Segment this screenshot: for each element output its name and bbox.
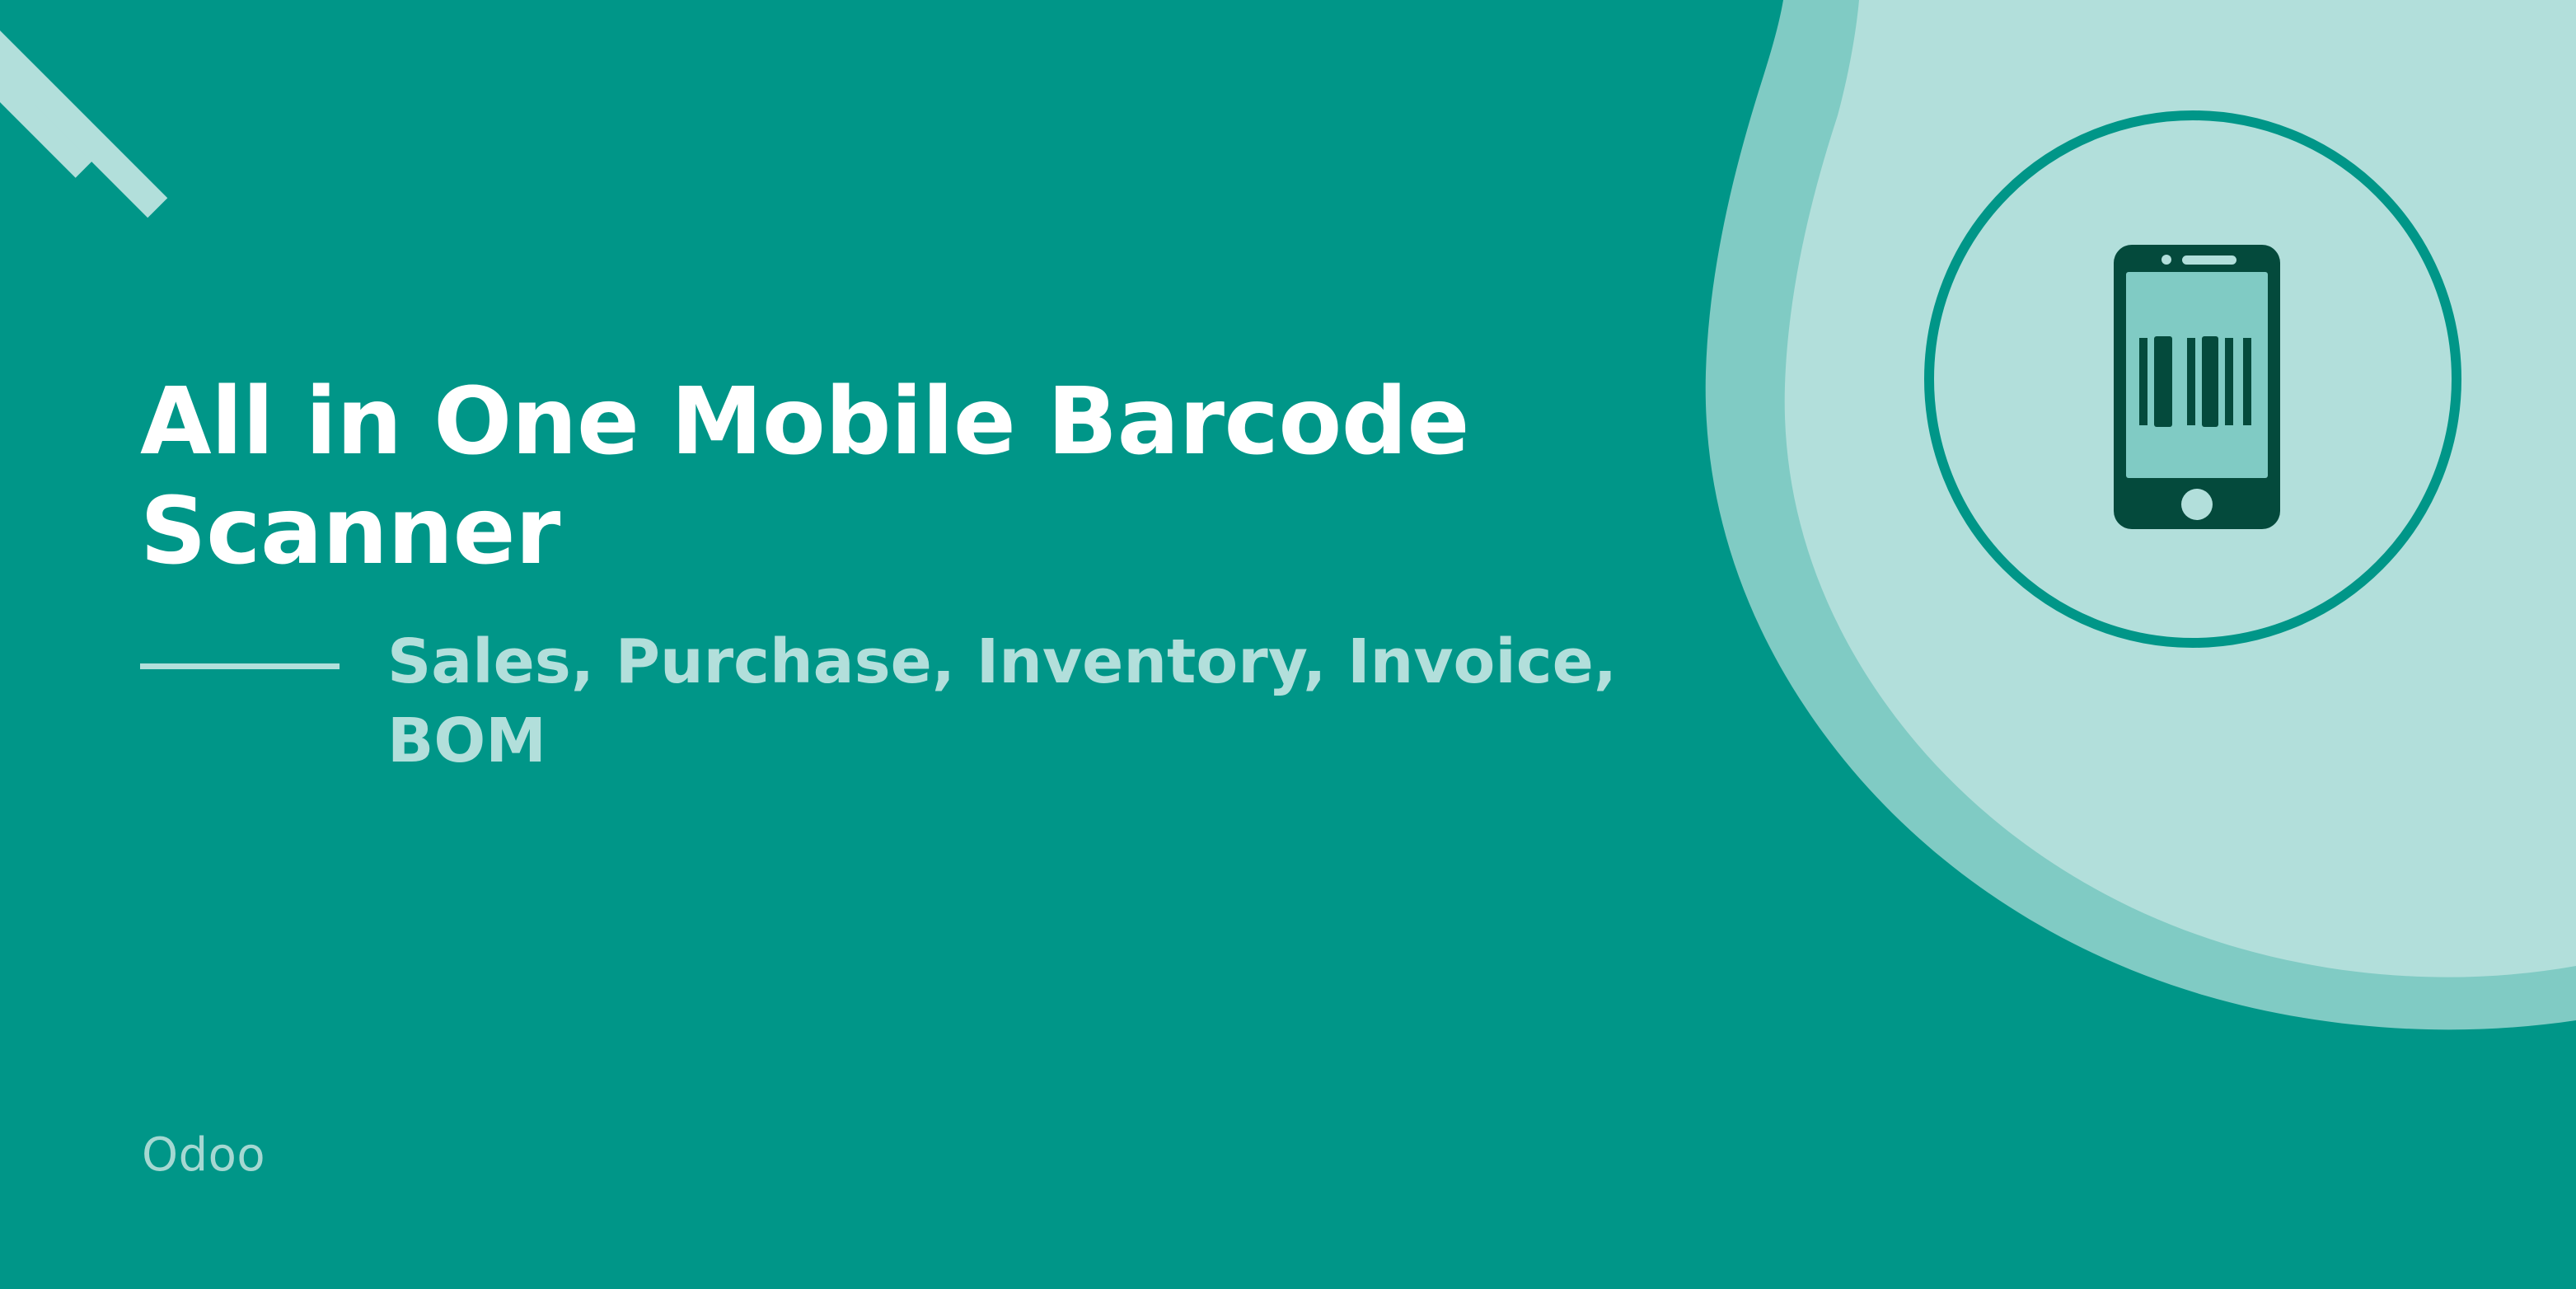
page-subtitle: Sales, Purchase, Inventory, Invoice, BOM xyxy=(387,622,1617,780)
barcode-bar xyxy=(2154,336,2172,427)
promo-banner: All in One Mobile Barcode Scanner Sales,… xyxy=(0,0,2576,1289)
brand-label: Odoo xyxy=(142,1132,265,1179)
phone-home-button xyxy=(2181,489,2213,520)
page-title: All in One Mobile Barcode Scanner xyxy=(140,368,1731,588)
barcode-bar xyxy=(2187,338,2195,425)
subtitle-rule-divider xyxy=(140,663,340,669)
barcode-bar xyxy=(2202,336,2218,427)
barcode-bar xyxy=(2243,338,2251,425)
phone-camera-dot xyxy=(2161,255,2171,265)
phone-speaker xyxy=(2182,255,2236,265)
barcode-bar xyxy=(2139,338,2147,425)
subtitle-row: Sales, Purchase, Inventory, Invoice, BOM xyxy=(140,622,1755,780)
headline-block: All in One Mobile Barcode Scanner Sales,… xyxy=(140,368,1755,780)
barcode-bar xyxy=(2225,338,2233,425)
